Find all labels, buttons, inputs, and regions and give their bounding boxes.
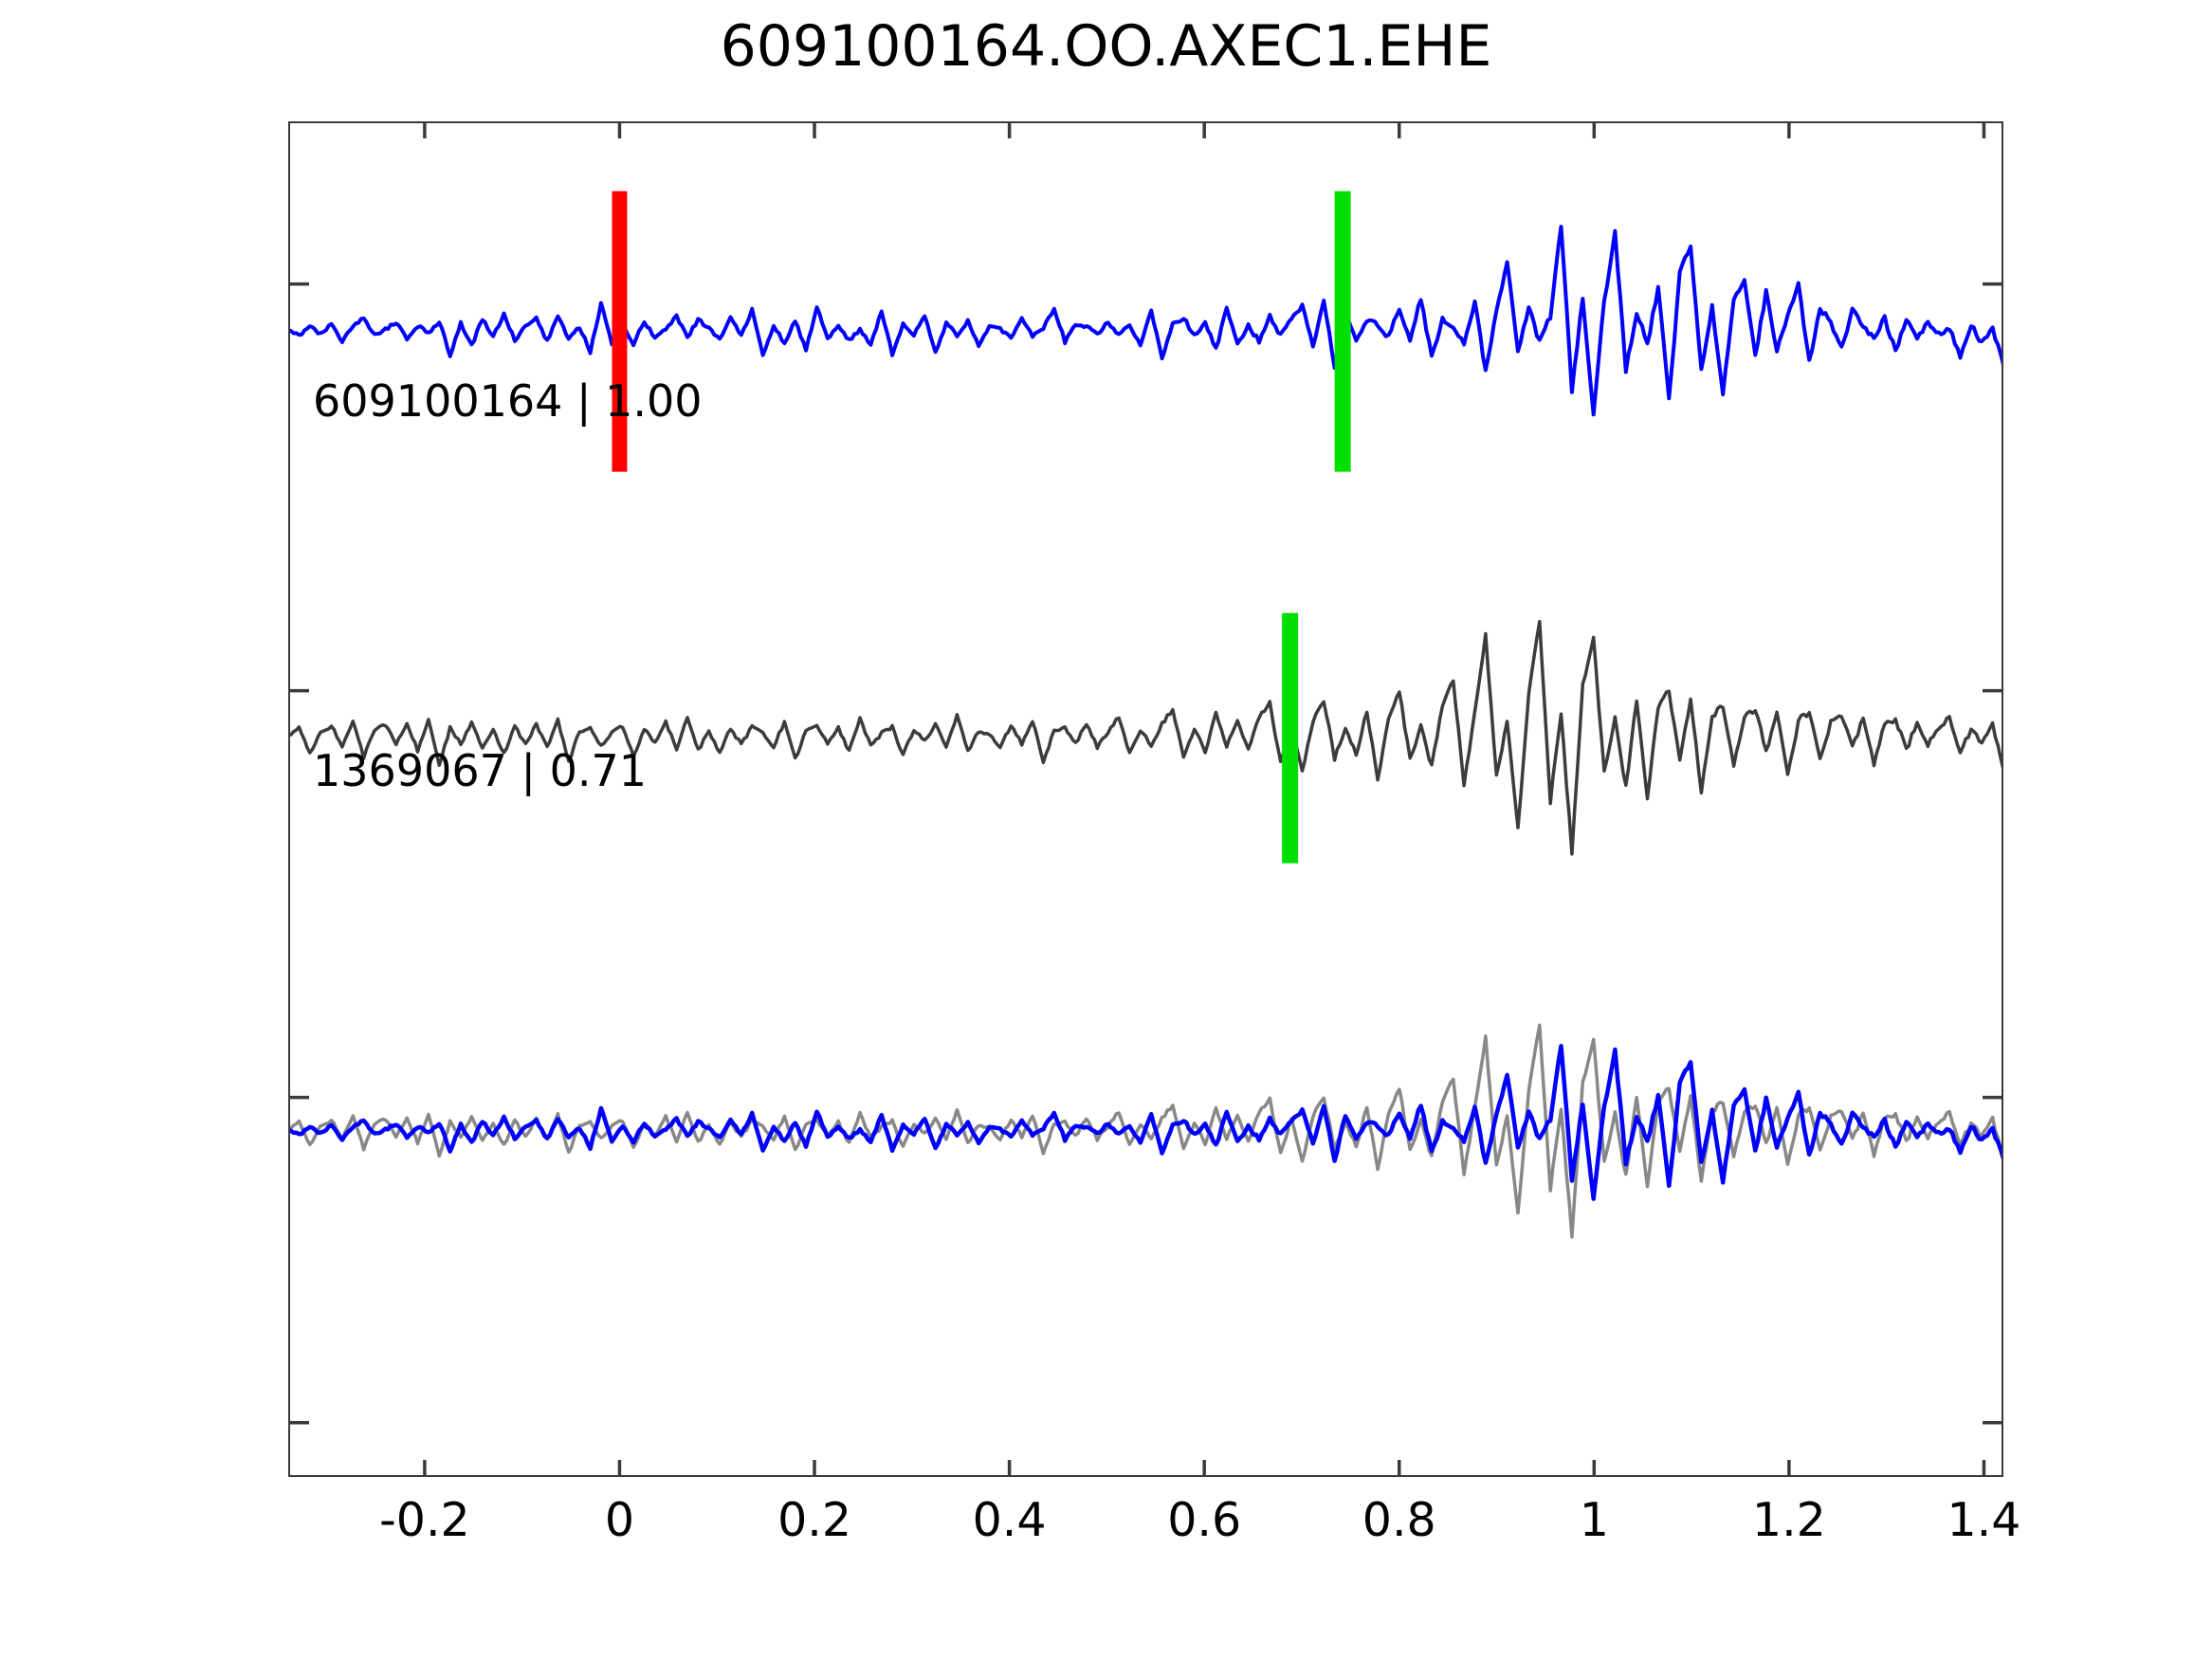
xtick-label-5: 0.8 [1362, 1493, 1436, 1547]
trace-overlay-blue [288, 1046, 2003, 1198]
xtick-label-0: -0.2 [379, 1493, 470, 1547]
marker-group [619, 191, 1343, 864]
x-axis-tick-labels: -0.200.20.40.60.811.21.4 [288, 1493, 2003, 1569]
xtick-label-6: 1 [1580, 1493, 1609, 1547]
xtick-label-8: 1.4 [1947, 1493, 2020, 1547]
figure-root: 609100164.OO.AXEC1.EHE 609100164 | 1.00 … [0, 0, 2212, 1659]
trace-2-annotation: 1369067 | 0.71 [313, 745, 647, 796]
xtick-label-3: 0.4 [973, 1493, 1047, 1547]
xtick-label-1: 0 [605, 1493, 634, 1547]
xtick-label-4: 0.6 [1167, 1493, 1241, 1547]
xtick-label-2: 0.2 [777, 1493, 851, 1547]
trace-1-annotation: 609100164 | 1.00 [313, 375, 703, 427]
plot-area [288, 121, 2003, 1477]
xtick-label-7: 1.2 [1752, 1493, 1826, 1547]
waveform-plot-svg [288, 121, 2003, 1477]
page-title: 609100164.OO.AXEC1.EHE [0, 13, 2212, 80]
trace-detection-dark [288, 622, 2003, 854]
